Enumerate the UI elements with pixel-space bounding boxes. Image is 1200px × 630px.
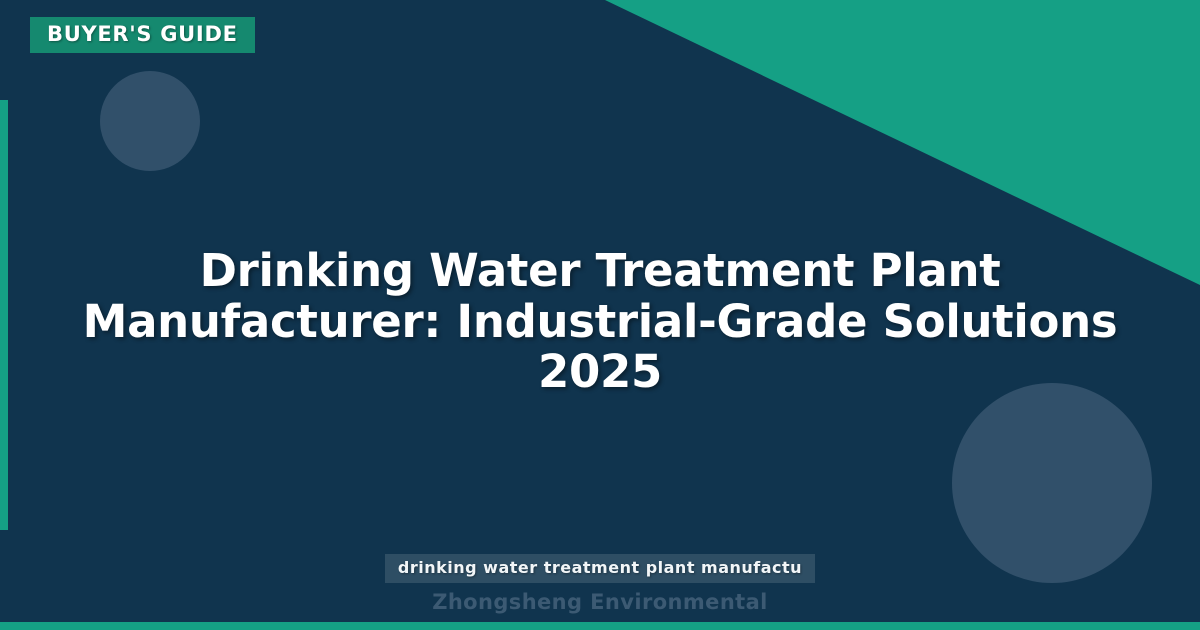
decorative-circle-large bbox=[952, 383, 1152, 583]
social-card: BUYER'S GUIDE Drinking Water Treatment P… bbox=[0, 0, 1200, 630]
bottom-accent-bar bbox=[0, 622, 1200, 630]
decorative-circle-small bbox=[100, 71, 200, 171]
keyword-chip: drinking water treatment plant manufactu bbox=[385, 554, 815, 583]
buyers-guide-badge: BUYER'S GUIDE bbox=[30, 17, 255, 53]
brand-name: Zhongsheng Environmental bbox=[0, 591, 1200, 614]
page-title: Drinking Water Treatment Plant Manufactu… bbox=[60, 246, 1140, 397]
left-accent-bar bbox=[0, 100, 8, 530]
footer-cluster: drinking water treatment plant manufactu… bbox=[0, 554, 1200, 614]
